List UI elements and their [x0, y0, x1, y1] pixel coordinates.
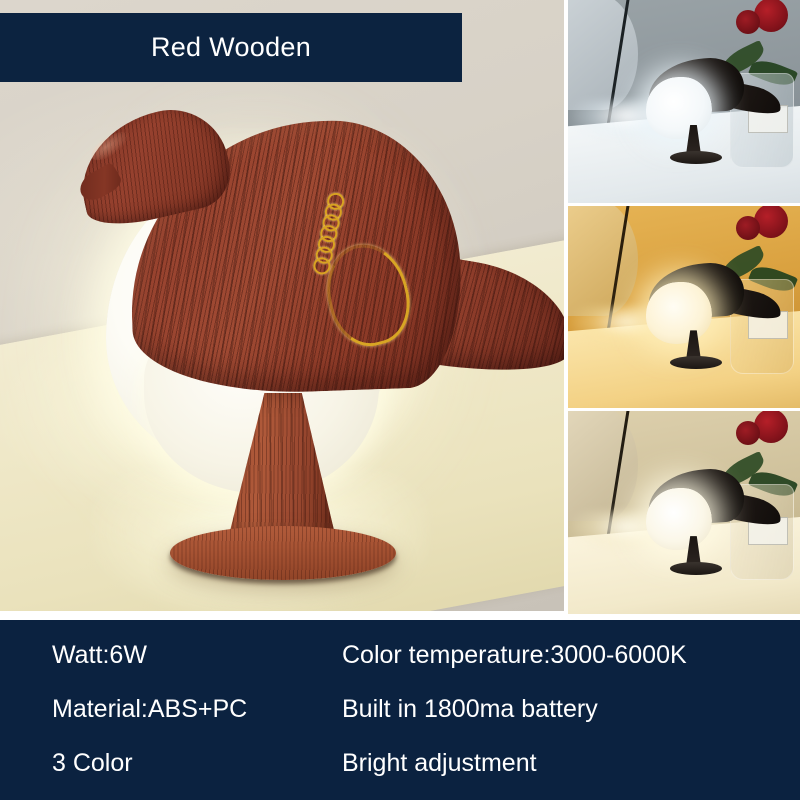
pillow	[568, 206, 638, 316]
illuminated-belly	[646, 77, 712, 139]
bird-beak	[75, 162, 124, 205]
red-rose-icon	[754, 206, 788, 238]
red-rose-bud-icon	[736, 10, 760, 34]
pillow	[568, 411, 638, 521]
illuminated-belly	[646, 282, 712, 344]
lamp-base	[670, 562, 722, 575]
spec-row: 3 Color Bright adjustment	[0, 736, 800, 790]
thumbnail-neutral-white-light-scene[interactable]	[568, 411, 800, 614]
bird-lamp	[640, 466, 758, 559]
scene-thumbnail-column	[568, 0, 800, 614]
product-infographic: Red Wooden	[0, 0, 800, 800]
variant-title-banner: Red Wooden	[0, 13, 462, 82]
spec-watt: Watt:6W	[52, 641, 147, 670]
illuminated-belly	[646, 488, 712, 550]
spec-battery: Built in 1800ma battery	[342, 695, 598, 724]
lamp-base	[670, 151, 722, 164]
spec-row: Watt:6W Color temperature:3000-6000K	[0, 628, 800, 682]
thumbnail-cool-white-light-scene[interactable]	[568, 0, 800, 203]
hero-product-photo[interactable]: Red Wooden	[0, 0, 564, 611]
head-highlight	[87, 127, 134, 166]
bird-lamp	[640, 260, 758, 353]
spec-material: Material:ABS+PC	[52, 695, 247, 724]
pillow	[568, 0, 638, 110]
bird-lamp	[640, 55, 758, 148]
spec-row: Material:ABS+PC Built in 1800ma battery	[0, 682, 800, 736]
thumbnail-warm-amber-light-scene[interactable]	[568, 206, 800, 409]
spec-color-temperature: Color temperature:3000-6000K	[342, 641, 687, 670]
red-rose-bud-icon	[736, 216, 760, 240]
spec-color-modes: 3 Color	[52, 749, 133, 778]
spec-brightness: Bright adjustment	[342, 749, 537, 778]
round-wood-base	[170, 526, 396, 580]
bird-lamp[interactable]	[70, 108, 540, 578]
variant-title-label: Red Wooden	[151, 32, 311, 63]
specification-panel: Watt:6W Color temperature:3000-6000K Mat…	[0, 620, 800, 800]
